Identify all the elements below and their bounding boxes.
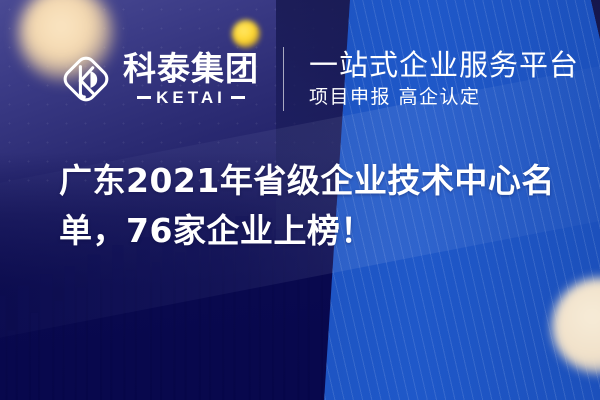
tagline-sub-text: 项目申报 高企认定 xyxy=(309,88,579,108)
promo-banner: 科泰集团 KETAI 一站式企业服务平台 项目申报 高企认定 广东2021年省级… xyxy=(0,0,600,400)
logo-wordmark: 科泰集团 KETAI xyxy=(123,52,259,106)
headline-text: 广东2021年省级企业技术中心名单，76家企业上榜！ xyxy=(59,156,559,256)
logo-english-row: KETAI xyxy=(123,89,259,106)
ketai-diamond-kd-monogram-icon xyxy=(58,51,114,107)
tagline-block: 一站式企业服务平台 项目申报 高企认定 xyxy=(309,50,579,108)
logo-dash-left-icon xyxy=(137,96,151,99)
tagline-main-text: 一站式企业服务平台 xyxy=(309,50,579,80)
logo-chinese-name: 科泰集团 xyxy=(123,52,259,85)
logo-english-name: KETAI xyxy=(156,89,226,106)
logo-dash-right-icon xyxy=(231,96,245,99)
banner-header: 科泰集团 KETAI 一站式企业服务平台 项目申报 高企认定 xyxy=(58,44,579,114)
ketai-logo[interactable]: 科泰集团 KETAI xyxy=(58,51,259,107)
header-divider xyxy=(283,47,284,111)
